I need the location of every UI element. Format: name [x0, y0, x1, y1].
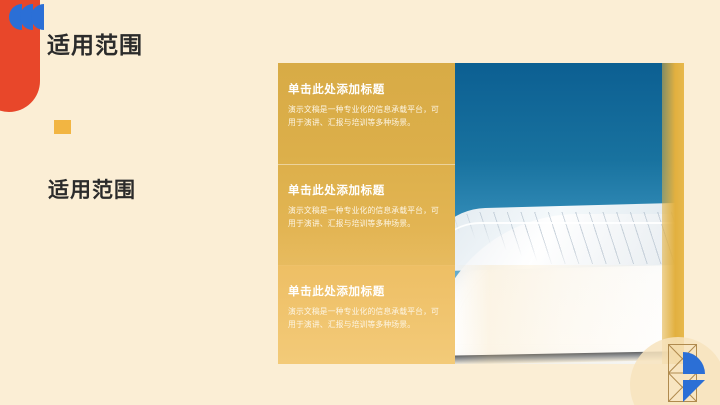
amber-square-marker	[54, 120, 71, 134]
page-title: 适用范围	[47, 26, 143, 60]
card-body: 单击此处添加标题 演示文稿是一种专业化的信息承载平台，可用于演讲、汇报与培训等多…	[288, 283, 456, 332]
card-title: 单击此处添加标题	[288, 182, 456, 198]
content-card[interactable]: 单击此处添加标题 演示文稿是一种专业化的信息承载平台，可用于演讲、汇报与培训等多…	[278, 63, 684, 163]
card-text: 演示文稿是一种专业化的信息承载平台，可用于演讲、汇报与培训等多种场景。	[288, 306, 440, 332]
card-body: 单击此处添加标题 演示文稿是一种专业化的信息承载平台，可用于演讲、汇报与培训等多…	[288, 81, 456, 130]
rewind-icon	[9, 4, 45, 30]
card-text: 演示文稿是一种专业化的信息承载平台，可用于演讲、汇报与培训等多种场景。	[288, 205, 440, 231]
card-text: 演示文稿是一种专业化的信息承载平台，可用于演讲、汇报与培训等多种场景。	[288, 104, 440, 130]
section-heading: 适用范围	[48, 174, 136, 204]
slide-canvas: 适用范围 适用范围 单击此处添加标题 演示文稿是一种专业化的信息承载平台，可用于…	[0, 0, 720, 405]
card-body: 单击此处添加标题 演示文稿是一种专业化的信息承载平台，可用于演讲、汇报与培训等多…	[288, 182, 456, 231]
card-title: 单击此处添加标题	[288, 81, 456, 97]
content-panel: 单击此处添加标题 演示文稿是一种专业化的信息承载平台，可用于演讲、汇报与培训等多…	[278, 63, 684, 364]
card-title: 单击此处添加标题	[288, 283, 456, 299]
blue-quarter-shapes-decoration	[683, 352, 717, 402]
content-card[interactable]: 单击此处添加标题 演示文稿是一种专业化的信息承载平台，可用于演讲、汇报与培训等多…	[278, 265, 684, 364]
content-card[interactable]: 单击此处添加标题 演示文稿是一种专业化的信息承载平台，可用于演讲、汇报与培训等多…	[278, 164, 684, 264]
